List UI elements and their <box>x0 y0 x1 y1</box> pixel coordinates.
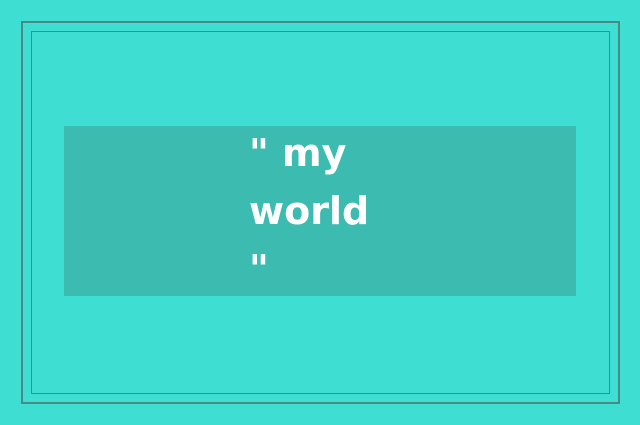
quote-panel: " my world " <box>64 126 576 296</box>
quote-card-canvas: " my world " <box>0 0 640 425</box>
quote-text: " my world " <box>249 124 391 298</box>
